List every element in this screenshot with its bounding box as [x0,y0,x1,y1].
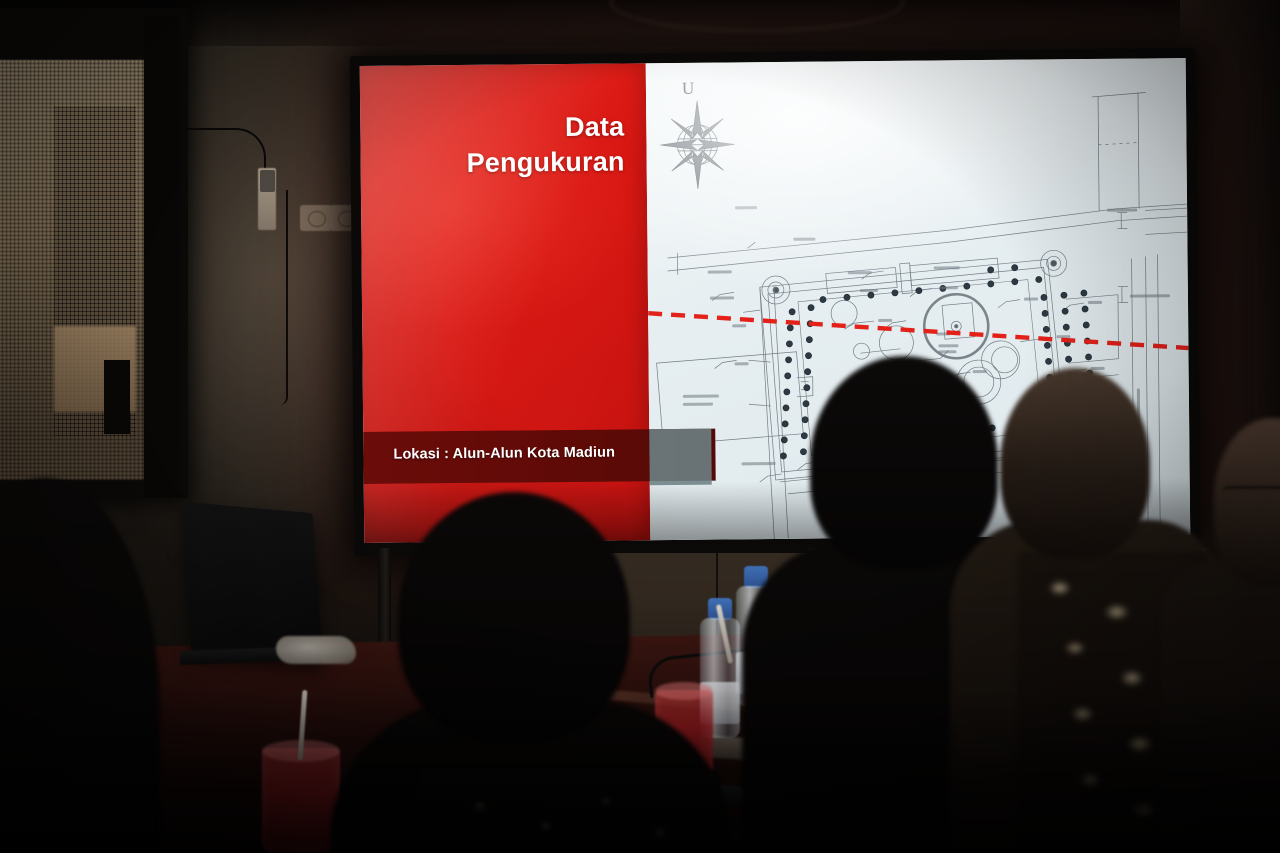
compass-letter-u: U [682,79,694,99]
wall-cable-hanging [276,190,288,405]
presentation-room-photo: Data Pengukuran Lokasi : Alun-Alun Kota … [0,0,1280,853]
attendee-mid-right-head [810,356,998,568]
eyeglasses [1222,486,1280,505]
glass-rim-1 [655,682,713,700]
slide-title-line2: Pengukuran [392,144,624,181]
switch-top-plate [260,170,275,192]
wall-cable-upper [178,128,266,178]
crumpled-tissue [276,636,356,664]
power-socket-1 [300,205,332,231]
door-frame [0,8,188,498]
slide-location-label: Lokasi : Alun-Alun Kota Madiun [393,445,615,463]
attendee-batik-head [1000,368,1150,558]
attendee-center-head [398,492,630,742]
slide-title: Data Pengukuran [392,109,625,180]
slide-gray-box [649,429,712,486]
red-drink-glass-2[interactable] [262,748,340,853]
boundary-line-red [648,308,1188,353]
door-handle [104,360,130,434]
slide-red-panel: Data Pengukuran Lokasi : Alun-Alun Kota … [360,63,651,543]
attendee-center-shirt [420,770,720,853]
slide-title-line1: Data [392,109,624,146]
door-edge [144,16,180,498]
attendee-glasses-body [1160,560,1280,853]
north-arrow-compass-rose [658,98,737,191]
